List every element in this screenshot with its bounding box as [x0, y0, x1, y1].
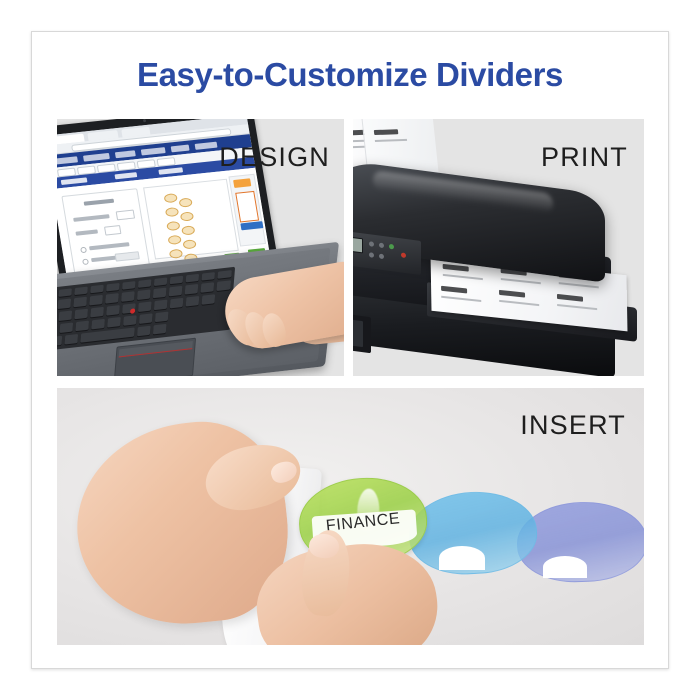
- panel-print: PRINT: [353, 119, 644, 376]
- panel-caption-design: DESIGN: [219, 142, 330, 173]
- navbar-item: [141, 147, 166, 155]
- form-secondary-button[interactable]: [115, 251, 140, 261]
- printer-display: [353, 235, 363, 254]
- form-input[interactable]: [104, 225, 121, 236]
- divider-tab-shape: [182, 239, 196, 249]
- printer-button[interactable]: [369, 241, 374, 247]
- tab-paper-notch: [439, 546, 485, 570]
- webcam-icon: [142, 119, 145, 122]
- document-preview: [143, 179, 239, 260]
- product-image-card: Easy-to-Customize Dividers: [31, 31, 669, 669]
- form-input[interactable]: [116, 210, 135, 221]
- screenshot-root: Easy-to-Customize Dividers: [0, 0, 700, 700]
- panel-insert: FINANCE INSERT: [57, 388, 644, 645]
- page-title: Easy-to-Customize Dividers: [32, 56, 668, 94]
- printer-button[interactable]: [369, 252, 374, 258]
- divider-tab-shape: [165, 207, 179, 217]
- navbar-item: [57, 156, 78, 164]
- form-radio-label: [89, 242, 130, 250]
- laptop-touchpad[interactable]: [114, 338, 197, 376]
- tab-paper-notch: [543, 556, 587, 578]
- printer-button[interactable]: [379, 243, 384, 249]
- printer-button[interactable]: [379, 254, 384, 260]
- divider-tab-shape: [166, 221, 180, 231]
- printer-button[interactable]: [389, 244, 394, 250]
- navbar-item: [83, 152, 110, 161]
- navbar-item: [115, 150, 136, 158]
- form-field-label: [73, 214, 110, 222]
- design-options-form: [61, 188, 150, 274]
- divider-tab-shape: [167, 235, 181, 245]
- form-radio[interactable]: [82, 259, 89, 266]
- navbar-item: [171, 144, 190, 152]
- navbar-item: [195, 141, 218, 149]
- template-thumbnail[interactable]: [235, 191, 259, 223]
- divider-tab-shape: [180, 211, 194, 221]
- section-header-label: [61, 177, 88, 185]
- trackpoint-icon[interactable]: [130, 308, 135, 314]
- divider-tab-shape: [163, 193, 177, 203]
- rail-badge: [233, 178, 251, 188]
- section-header-label: [158, 167, 183, 174]
- divider-tab-shape: [178, 197, 192, 207]
- form-field-label: [75, 229, 98, 235]
- form-radio[interactable]: [80, 247, 87, 254]
- section-header-label: [115, 172, 138, 179]
- divider-tab-shape: [181, 225, 195, 235]
- printer-power-button[interactable]: [401, 252, 406, 258]
- panel-caption-insert: INSERT: [520, 410, 626, 441]
- divider-tab-shape: [169, 249, 183, 259]
- panel-design: DESIGN: [57, 119, 344, 376]
- memory-card-slot: [353, 313, 371, 353]
- laptop-keyboard[interactable]: [57, 267, 235, 352]
- form-heading: [84, 199, 115, 206]
- panel-caption-print: PRINT: [541, 142, 628, 173]
